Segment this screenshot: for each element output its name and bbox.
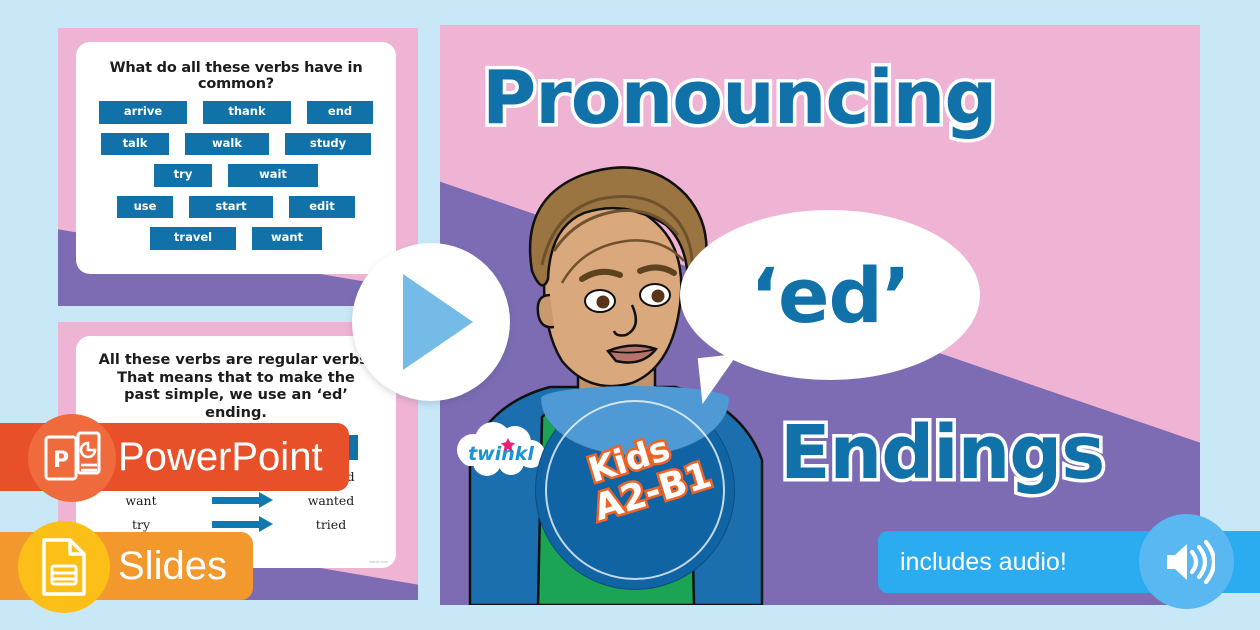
slide-2-explanation-text: All these verbs are regular verbs. That … xyxy=(76,336,396,423)
verb-chip-grid: arrive thank end talk walk study try wai… xyxy=(76,101,396,250)
verb-chip[interactable]: try xyxy=(154,164,212,187)
right-arrow-icon xyxy=(196,521,276,528)
verb-chip[interactable]: wait xyxy=(228,164,318,187)
cover-title-line-1: Pronouncing xyxy=(482,55,996,141)
right-arrow-icon xyxy=(196,497,276,504)
kids-level-badge: Kids A2-B1 xyxy=(535,390,735,590)
twinkl-logo-text: twinkl xyxy=(468,443,534,465)
verb-chip[interactable]: study xyxy=(285,133,371,156)
verb-chip[interactable]: talk xyxy=(101,133,169,156)
audio-icon-circle xyxy=(1139,514,1234,609)
verb-chip[interactable]: arrive xyxy=(99,101,187,124)
powerpoint-icon-circle: P xyxy=(28,414,116,502)
verb-row: talk walk study xyxy=(76,133,396,156)
verb-chip[interactable]: start xyxy=(189,196,273,219)
speaker-icon xyxy=(1159,534,1215,590)
presentation-preview-canvas: What do all these verbs have in common? … xyxy=(0,0,1260,630)
powerpoint-file-icon: P xyxy=(43,431,101,485)
verb-chip[interactable]: thank xyxy=(203,101,291,124)
slides-icon-circle xyxy=(18,521,110,613)
table-row: try tried xyxy=(76,517,396,532)
resource-cover-image: twinkl Kids A2-B1 Pronouncing Endings ‘e… xyxy=(440,25,1200,605)
google-slides-file-icon xyxy=(38,536,90,598)
cover-title-line-2: Endings xyxy=(780,410,1104,496)
slide-1-card: What do all these verbs have in common? … xyxy=(76,42,396,274)
verb-chip[interactable]: use xyxy=(117,196,173,219)
verb-chip[interactable]: walk xyxy=(185,133,269,156)
verb-chip[interactable]: end xyxy=(307,101,373,124)
table-row: want wanted xyxy=(76,493,396,508)
verb-chip[interactable]: travel xyxy=(150,227,236,250)
play-triangle-icon xyxy=(403,274,473,370)
table-cell-present: want xyxy=(106,493,176,508)
verb-chip[interactable]: want xyxy=(252,227,322,250)
table-cell-past: tried xyxy=(296,517,366,532)
svg-text:P: P xyxy=(53,448,69,473)
verb-row: travel want xyxy=(76,227,396,250)
slide-thumbnail-1[interactable]: What do all these verbs have in common? … xyxy=(58,28,418,306)
verb-chip[interactable]: edit xyxy=(289,196,355,219)
slide-credit: twinkl.com xyxy=(369,559,388,564)
table-cell-present: try xyxy=(106,517,176,532)
verb-row: use start edit xyxy=(76,196,396,219)
includes-audio-label: includes audio! xyxy=(878,548,1067,577)
play-video-button[interactable] xyxy=(352,243,510,401)
table-cell-past: wanted xyxy=(296,493,366,508)
verb-row: arrive thank end xyxy=(76,101,396,124)
speech-bubble-text: ‘ed’ xyxy=(750,251,910,340)
speech-bubble-tail xyxy=(698,354,743,404)
verb-row: try wait xyxy=(76,164,396,187)
speech-bubble: ‘ed’ xyxy=(680,210,980,380)
slide-1-question-title: What do all these verbs have in common? xyxy=(76,42,396,92)
